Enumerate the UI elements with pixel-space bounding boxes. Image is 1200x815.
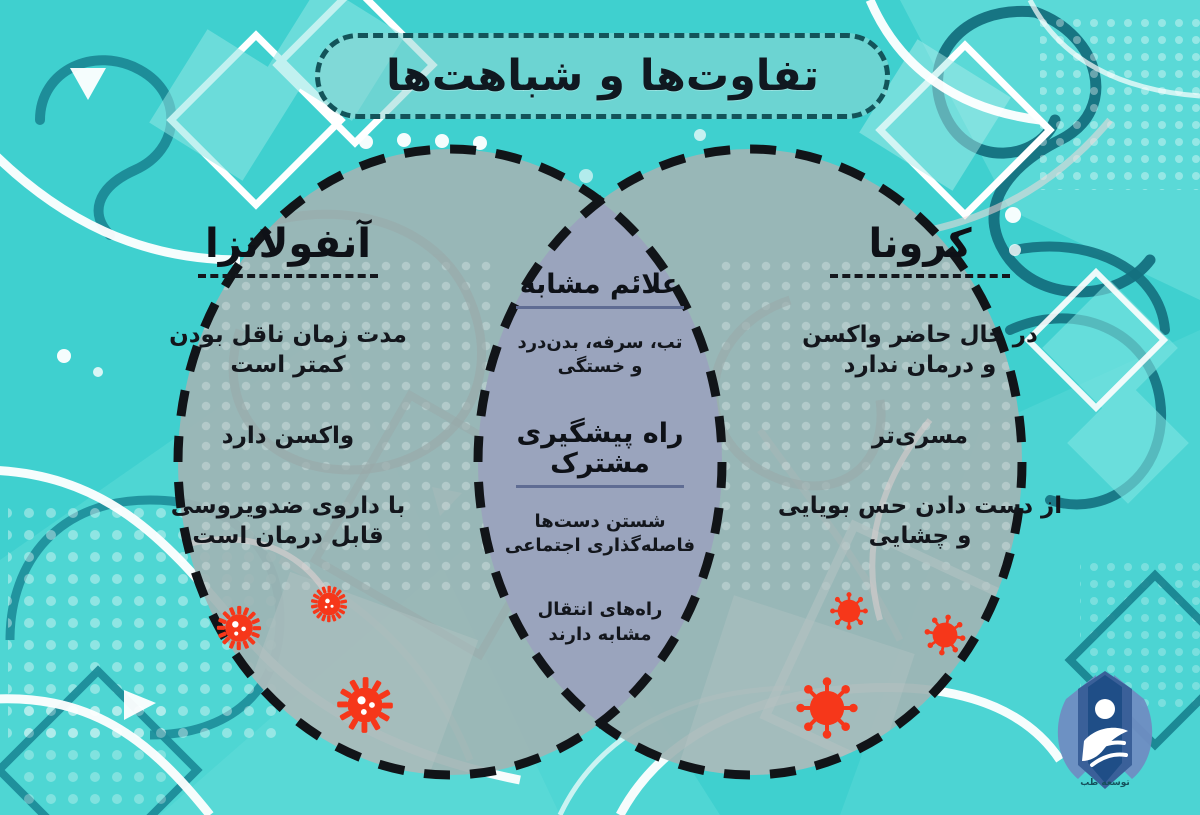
left-circle-content: آنفولانزا مدت زمان ناقل بودنکمتر است واک… [108,222,468,552]
right-item-2: مسری‌تر [740,421,1100,451]
virus-icon-right-2 [922,612,968,658]
intersection-item-3-1: راه‌های انتقالمشابه دارند [478,598,722,647]
right-circle-content: کرونا در حال حاضر واکسنو درمان ندارد مسر… [740,222,1100,552]
intersection-content: علائم مشابه تب، سرفه، بدن‌دردو خستگی راه… [478,270,722,647]
virus-icon-left-2 [310,585,348,623]
virus-icon-right-1 [828,590,870,632]
right-item-3: از دست دادن حس بویاییو چشایی [740,491,1100,552]
intersection-heading-2: راه پیشگیری مشترک [478,419,722,478]
page-title: تفاوت‌ها و شباهت‌ها [386,55,819,98]
left-circle-heading: آنفولانزا [108,222,468,266]
virus-icon-left-3 [336,676,394,734]
left-item-1: مدت زمان ناقل بودنکمتر است [108,320,468,381]
organization-logo-caption: توسعه طب [1030,778,1180,788]
intersection-item-2-2: فاصله‌گذاری اجتماعی [478,534,722,558]
left-item-3: با داروی ضدویروسیقابل درمان است [108,491,468,552]
page-title-badge: تفاوت‌ها و شباهت‌ها [315,33,890,119]
infographic-canvas: تفاوت‌ها و شباهت‌ها آنفولانزا مدت زمان ن… [0,0,1200,815]
intersection-heading-1: علائم مشابه [478,270,722,300]
virus-icon-right-3 [794,675,860,741]
left-item-2: واکسن دارد [108,421,468,451]
virus-icon-left-1 [216,605,262,651]
intersection-item-1-1: تب، سرفه، بدن‌دردو خستگی [478,331,722,380]
right-circle-heading: کرونا [740,222,1100,266]
right-item-1: در حال حاضر واکسنو درمان ندارد [740,320,1100,381]
intersection-item-2-1: شستن دست‌ها [478,510,722,534]
